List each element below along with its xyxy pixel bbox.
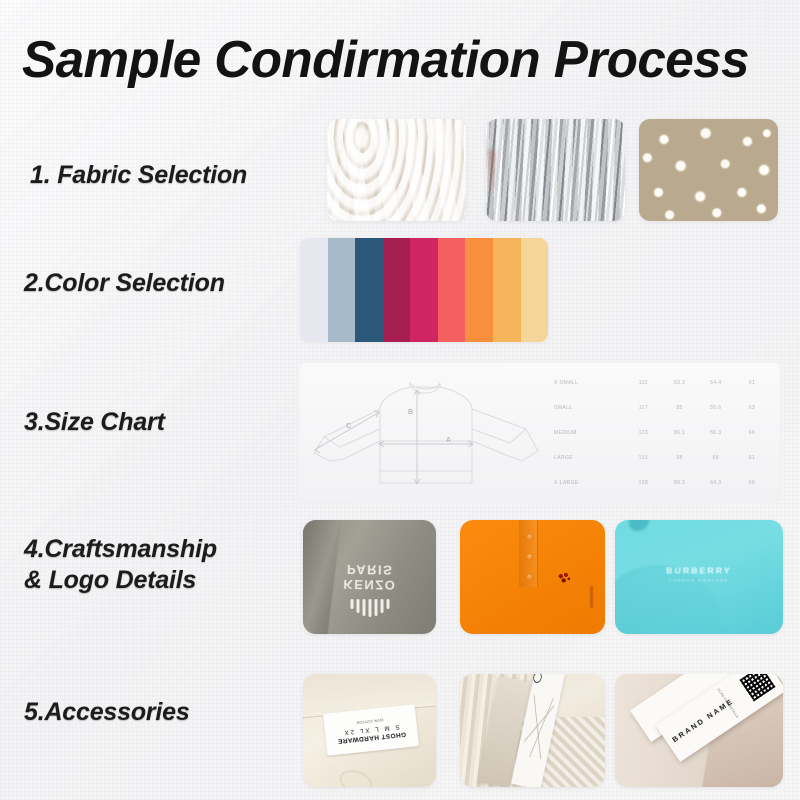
size-cell-v3: 54.4 [698,380,734,386]
size-cell-v4: 61 [734,380,770,386]
step-label-size-chart: 3.Size Chart [24,407,165,438]
size-cell-v2: 86.1 [661,430,697,436]
size-diagram-label-width: A [446,437,451,444]
color-swatch-0 [300,238,328,342]
size-cell-size: X-LARGE [554,480,625,486]
polo-seam [590,586,593,608]
fabric-swatch-boucle-beige [639,119,778,221]
craftsmanship-photo-burberry-print: BURBERRY LONDON ENGLAND [615,520,783,634]
color-swatch-6 [465,238,493,342]
size-cell-v4: 66 [734,430,770,436]
embroidered-crest-icon [556,571,572,584]
size-table-row: X-SMALL 112 63.3 54.4 61 [554,380,770,386]
color-swatch-2 [355,238,383,342]
size-cell-v2: 85 [661,405,697,411]
color-palette [300,238,548,342]
fabric-swatch-pleated-grey-wave [486,119,625,221]
step-label-craftsmanship: 4.Craftsmanship & Logo Details [24,534,217,597]
size-cell-size: X-SMALL [554,380,625,386]
size-diagram-label-length: B [408,409,413,416]
size-cell-v2: 63.3 [661,380,697,386]
size-cell-v3: 55.6 [698,405,734,411]
accessory-photo-brand-tag: BRAND NAME SCAN FOR DETAILS [615,674,783,787]
size-cell-v2: 89.3 [661,480,697,486]
poster-root: Sample Condirmation Process 1. Fabric Se… [0,0,800,800]
color-swatch-8 [521,238,549,342]
kenzo-rays-icon [350,599,389,617]
shoulder-shadow [615,550,732,634]
size-cell-size: MEDIUM [554,430,625,436]
care-label-note: 100% COTTON [356,718,384,725]
page-title: Sample Condirmation Process [22,30,771,90]
accessory-photo-hang-tags [460,674,605,787]
size-table: X-SMALL 112 63.3 54.4 61 SMALL 117 85 55… [550,363,780,503]
size-cell-v3: 58 [698,455,734,461]
size-cell-v1: 131 [625,455,661,461]
burberry-logo-text: BURBERRY LONDON ENGLAND [666,565,731,582]
fabric-fold [303,520,342,634]
color-swatch-4 [410,238,438,342]
size-cell-v2: 88 [661,455,697,461]
size-cell-v4: 69 [734,480,770,486]
size-cell-v1: 117 [625,405,661,411]
size-table-row: X-LARGE 138 89.3 64.3 69 [554,480,770,486]
sweater-technical-drawing: A B C [300,363,550,503]
fabric-swatch-cable-knit-cream [327,119,466,221]
color-swatch-5 [438,238,466,342]
size-cell-size: SMALL [554,405,625,411]
step-label-color-selection: 2.Color Selection [24,268,225,299]
drawcord [336,766,375,787]
size-cell-v1: 112 [625,380,661,386]
kenzo-logo-text: KENZO PARIS [343,561,397,593]
size-diagram-label-sleeve: C [346,423,351,430]
size-cell-v3: 64.3 [698,480,734,486]
size-table-row: LARGE 131 88 58 61 [554,455,770,461]
care-label-tag: GHOST HARDWARE S M L XL 2X 100% COTTON [323,704,419,755]
size-cell-v4: 63 [734,405,770,411]
size-cell-v4: 61 [734,455,770,461]
size-cell-v3: 56.3 [698,430,734,436]
size-chart-panel: A B C X-SMALL 112 63.3 54.4 61 SMALL 117… [300,363,780,503]
step-label-accessories: 5.Accessories [24,697,190,728]
size-table-row: SMALL 117 85 55.6 63 [554,405,770,411]
color-swatch-3 [383,238,411,342]
color-swatch-7 [493,238,521,342]
size-cell-v1: 138 [625,480,661,486]
accessory-photo-care-label: GHOST HARDWARE S M L XL 2X 100% COTTON [303,674,436,787]
shoulder-seam [629,520,649,531]
size-cell-size: LARGE [554,455,625,461]
qr-code-icon [739,674,775,701]
step-label-fabric-selection: 1. Fabric Selection [30,160,247,191]
color-swatch-1 [328,238,356,342]
craftsmanship-photo-kenzo-print: KENZO PARIS [303,520,436,634]
size-cell-v1: 123 [625,430,661,436]
craftsmanship-photo-orange-polo [460,520,605,634]
size-table-row: MEDIUM 123 86.1 56.3 66 [554,430,770,436]
